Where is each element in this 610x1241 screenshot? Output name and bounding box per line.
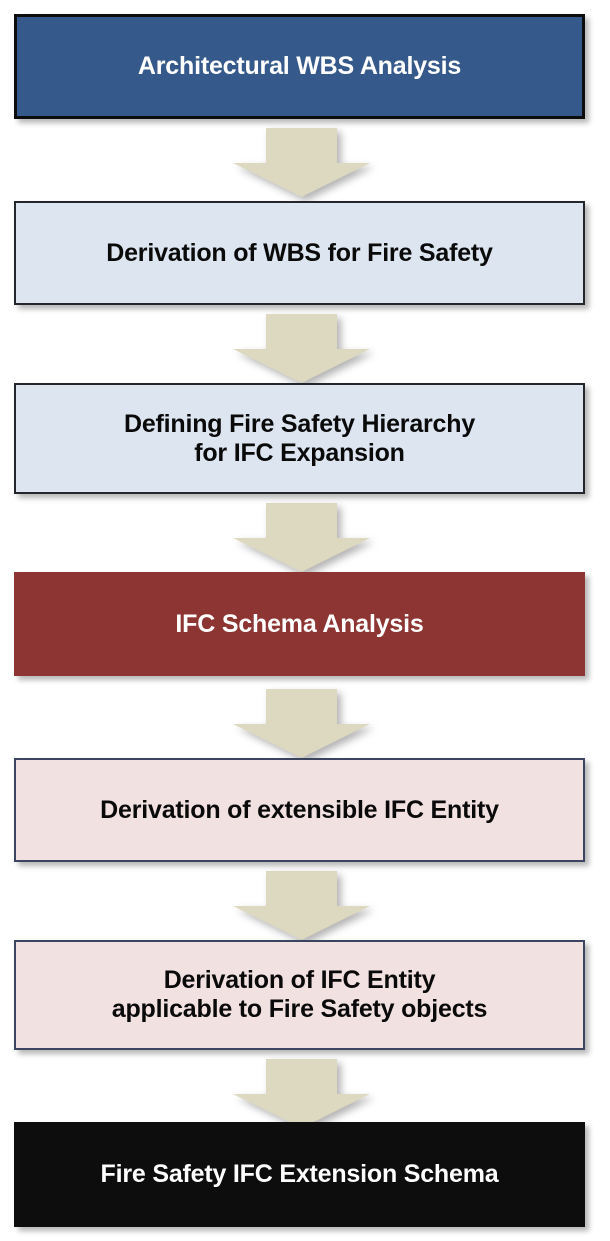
flowchart-diagram: Architectural WBS Analysis Derivation of…: [0, 0, 610, 1241]
flow-node-label: Derivation of extensible IFC Entity: [90, 796, 509, 825]
flow-node-label: Fire Safety IFC Extension Schema: [91, 1160, 509, 1189]
down-arrow-icon: [233, 314, 370, 383]
down-arrow-icon: [233, 871, 370, 940]
flow-node-label: IFC Schema Analysis: [165, 610, 433, 639]
flow-node-derivation-of-wbs-for-fire-safety[interactable]: Derivation of WBS for Fire Safety: [14, 201, 585, 305]
flow-node-label: Architectural WBS Analysis: [128, 52, 471, 81]
flow-node-label: Derivation of WBS for Fire Safety: [96, 239, 503, 268]
flow-node-architectural-wbs-analysis[interactable]: Architectural WBS Analysis: [14, 14, 585, 119]
down-arrow-icon: [233, 503, 370, 572]
down-arrow-icon: [233, 128, 370, 197]
flow-node-derivation-of-ifc-entity-fire-safety[interactable]: Derivation of IFC Entity applicable to F…: [14, 940, 585, 1050]
flow-node-ifc-schema-analysis[interactable]: IFC Schema Analysis: [14, 572, 585, 676]
flow-node-defining-fire-safety-hierarchy[interactable]: Defining Fire Safety Hierarchy for IFC E…: [14, 383, 585, 494]
flow-node-fire-safety-ifc-extension-schema[interactable]: Fire Safety IFC Extension Schema: [14, 1122, 585, 1227]
down-arrow-icon: [233, 689, 370, 758]
flow-node-label: Derivation of IFC Entity applicable to F…: [102, 966, 497, 1024]
flow-node-derivation-of-extensible-ifc-entity[interactable]: Derivation of extensible IFC Entity: [14, 758, 585, 862]
flow-node-label: Defining Fire Safety Hierarchy for IFC E…: [114, 410, 485, 468]
down-arrow-icon: [233, 1059, 370, 1128]
